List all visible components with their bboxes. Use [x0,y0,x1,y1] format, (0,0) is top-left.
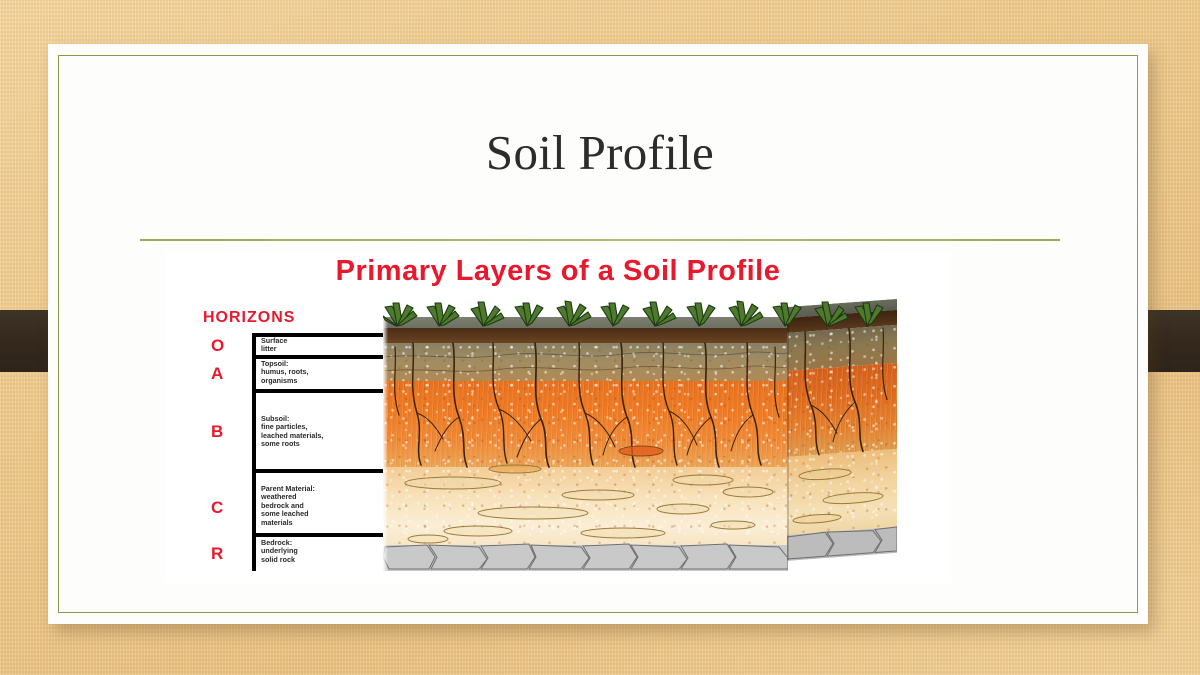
grass-cover-icon [383,299,903,325]
horizon-letter-r: R [211,545,223,562]
layer-parent-material [383,467,788,545]
legend-divider [252,469,395,473]
legend-divider [252,389,395,393]
horizon-text-c: Parent Material: weathered bedrock and s… [261,485,315,527]
horizon-letter-b: B [211,423,223,440]
soil-block-side-face [787,299,897,561]
layer-bedrock [383,545,788,571]
horizon-letter-o: O [211,337,224,354]
page-title: Soil Profile [140,124,1060,181]
diagram-heading: Primary Layers of a Soil Profile [165,255,951,288]
horizon-text-r: Bedrock: underlying solid rock [261,539,298,564]
title-underline-rule [140,239,1060,241]
layer-subsoil [383,381,788,467]
side-layer-parent-material [787,449,897,535]
horizon-text-a: Topsoil: humus, roots, organisms [261,360,309,385]
horizon-letter-c: C [211,499,223,516]
soil-block-diagram [383,299,903,571]
soil-block-front-face [383,317,788,571]
legend-title: HORIZONS [203,309,295,327]
side-layer-subsoil [787,363,897,457]
horizon-letter-a: A [211,365,223,382]
soil-profile-diagram: Primary Layers of a Soil Profile HORIZON… [165,251,951,583]
legend-divider [252,533,395,537]
layer-topsoil-dark [383,328,788,343]
horizon-text-b: Subsoil: fine particles, leached materia… [261,415,323,449]
layer-topsoil-mix [383,343,788,381]
legend-body: O Surface litter A Topsoil: humus, roots… [195,333,395,571]
horizons-legend: HORIZONS O Surface litter A Topsoil: hum… [195,309,395,571]
horizon-text-o: Surface litter [261,337,287,354]
